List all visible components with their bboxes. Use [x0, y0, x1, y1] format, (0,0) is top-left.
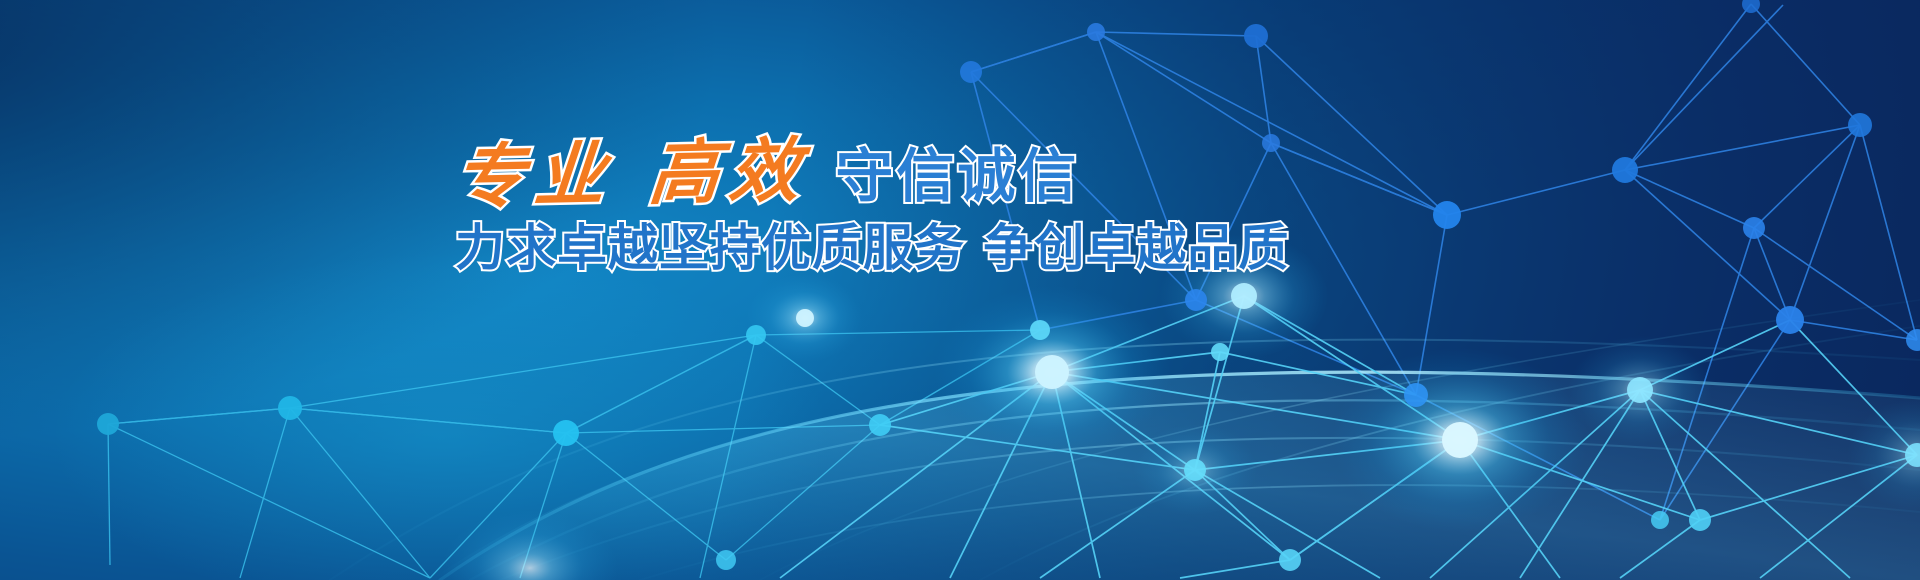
headline-accent-text: 专业 高效	[452, 135, 813, 212]
network-graphic	[0, 0, 1920, 580]
promo-banner: 专业 高效 守信诚信 力求卓越坚持优质服务 争创卓越品质	[0, 0, 1920, 580]
headline-white-text: 守信诚信	[835, 147, 1079, 205]
slogan-block: 专业 高效 守信诚信 力求卓越坚持优质服务 争创卓越品质	[455, 131, 1155, 273]
headline: 专业 高效 守信诚信	[455, 131, 1155, 209]
subheadline-text: 力求卓越坚持优质服务 争创卓越品质	[455, 223, 1155, 273]
